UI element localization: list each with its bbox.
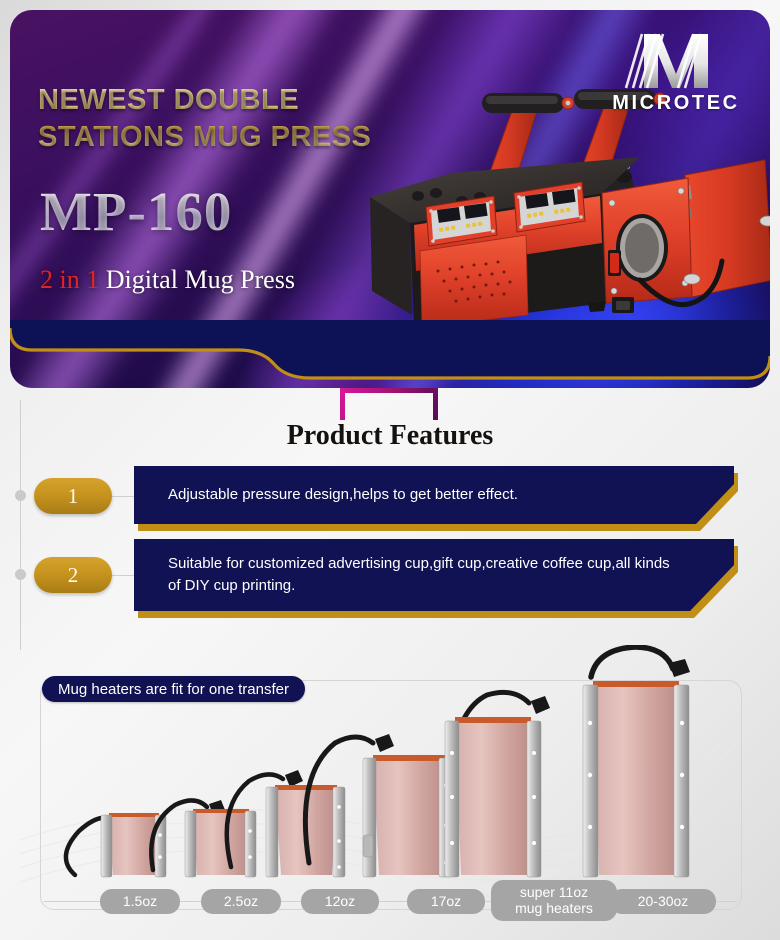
size-pill-5: super 11oz mug heaters xyxy=(491,880,617,921)
product-infographic-page: NEWEST DOUBLE STATIONS MUG PRESS MP-160 … xyxy=(0,0,780,940)
brand-logo: MICROTEC xyxy=(600,32,752,115)
feature-number-badge-2: 2 xyxy=(34,557,112,593)
product-features-title: Product Features xyxy=(0,420,780,452)
feature-number-badge-1: 1 xyxy=(34,478,112,514)
size-line xyxy=(44,901,106,902)
bracket-top xyxy=(340,388,438,393)
bracket-left xyxy=(340,388,345,420)
size-pill-3: 12oz xyxy=(301,889,379,914)
headline-line-1: NEWEST DOUBLE xyxy=(38,82,458,119)
brand-name: MICROTEC xyxy=(600,92,752,115)
title-bracket-ornament xyxy=(340,388,438,420)
feature-bar-2: Suitable for customized advertising cup,… xyxy=(134,539,734,611)
tagline-accent: 2 in 1 xyxy=(40,265,99,294)
mug-heaters-illustration xyxy=(45,645,745,895)
bracket-right xyxy=(433,388,438,420)
size-pill-6: 20-30oz xyxy=(610,889,716,914)
headline-line-2: STATIONS MUG PRESS xyxy=(38,119,458,156)
size-pill-4: 17oz xyxy=(407,889,485,914)
size-pill-1: 1.5oz xyxy=(100,889,180,914)
heater-6 xyxy=(583,647,690,877)
tagline-rest: Digital Mug Press xyxy=(99,265,295,294)
model-number: MP-160 xyxy=(40,180,232,243)
feature-text-2: Suitable for customized advertising cup,… xyxy=(168,539,674,611)
hero-tagline: 2 in 1 Digital Mug Press xyxy=(40,265,295,295)
rail-dot-2 xyxy=(15,569,26,580)
heater-5 xyxy=(445,692,550,877)
hero-headline: NEWEST DOUBLE STATIONS MUG PRESS xyxy=(38,82,458,156)
rail-dot-1 xyxy=(15,490,26,501)
stylized-m-logo-icon xyxy=(616,32,736,90)
feature-bar-1: Adjustable pressure design,helps to get … xyxy=(134,466,734,524)
heater-2 xyxy=(151,800,256,877)
feature-text-1: Adjustable pressure design,helps to get … xyxy=(168,466,674,524)
size-pill-2: 2.5oz xyxy=(201,889,281,914)
